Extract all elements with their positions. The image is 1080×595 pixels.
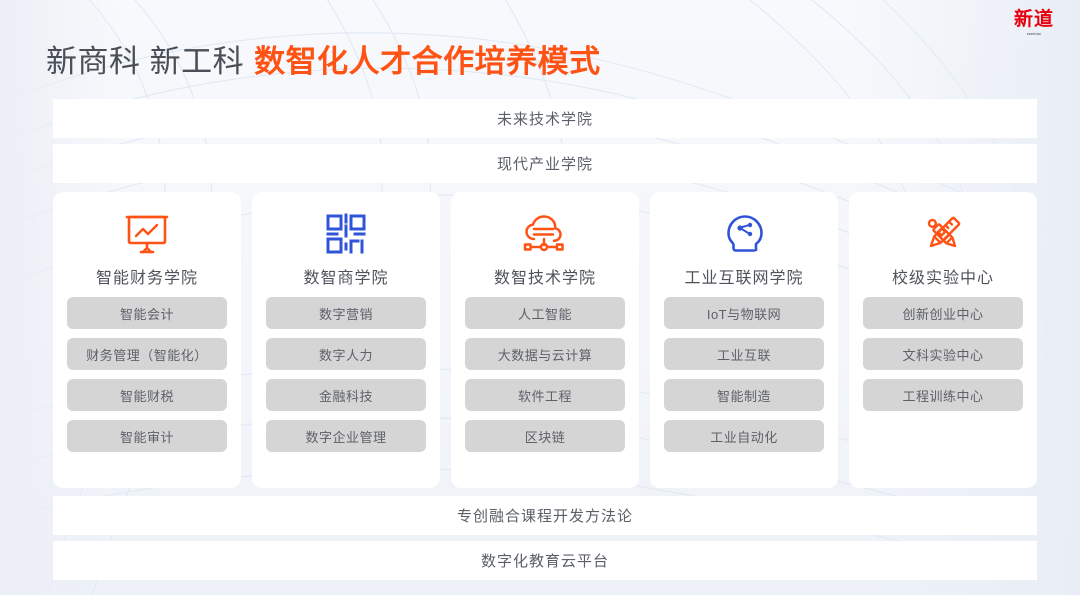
- program-pill[interactable]: 数字营销: [266, 297, 426, 329]
- column-card-intelligent-finance[interactable]: 智能财务学院 智能会计 财务管理（智能化） 智能财税 智能审计: [53, 192, 241, 488]
- program-pill[interactable]: IoT与物联网: [664, 297, 824, 329]
- program-pill[interactable]: 软件工程: [465, 379, 625, 411]
- program-pill[interactable]: 工业自动化: [664, 420, 824, 452]
- column-card-university-lab-center[interactable]: 校级实验中心 创新创业中心 文科实验中心 工程训练中心: [849, 192, 1037, 488]
- presentation-chart-icon: [124, 208, 170, 260]
- band-future-technology-college: 未来技术学院: [53, 99, 1037, 138]
- column-title: 校级实验中心: [892, 264, 994, 288]
- program-pill[interactable]: 智能制造: [664, 379, 824, 411]
- band-label: 专创融合课程开发方法论: [457, 505, 633, 526]
- column-card-digital-business[interactable]: 数智商学院 数字营销 数字人力 金融科技 数字企业管理: [252, 192, 440, 488]
- page-title-plain: 新商科 新工科: [46, 44, 244, 79]
- program-pill[interactable]: 区块链: [465, 420, 625, 452]
- program-pill[interactable]: 金融科技: [266, 379, 426, 411]
- page-title-accent: 数智化人才合作培养模式: [254, 44, 601, 79]
- program-pill[interactable]: 工业互联: [664, 338, 824, 370]
- college-columns: 智能财务学院 智能会计 财务管理（智能化） 智能财税 智能审计 数智商学院: [53, 192, 1037, 488]
- column-title: 智能财务学院: [96, 264, 198, 288]
- program-pill-list: 智能会计 财务管理（智能化） 智能财税 智能审计: [67, 297, 227, 452]
- program-pill-list: 人工智能 大数据与云计算 软件工程 区块链: [465, 297, 625, 452]
- program-pill[interactable]: 创新创业中心: [863, 297, 1023, 329]
- program-pill-list: 创新创业中心 文科实验中心 工程训练中心: [863, 297, 1023, 411]
- page-title: 新商科 新工科数智化人才合作培养模式: [46, 40, 601, 84]
- program-pill[interactable]: 智能财税: [67, 379, 227, 411]
- column-title: 数智商学院: [303, 264, 388, 288]
- ruler-pencil-icon: [921, 208, 965, 260]
- brand-logo: 新道 seentao: [1002, 10, 1066, 37]
- band-course-development-methodology: 专创融合课程开发方法论: [53, 496, 1037, 535]
- program-pill-list: IoT与物联网 工业互联 智能制造 工业自动化: [664, 297, 824, 452]
- program-pill[interactable]: 工程训练中心: [863, 379, 1023, 411]
- column-title: 工业互联网学院: [684, 264, 803, 288]
- program-pill[interactable]: 文科实验中心: [863, 338, 1023, 370]
- page-header: 新商科 新工科数智化人才合作培养模式 新道 seentao: [0, 0, 1080, 98]
- band-label: 现代产业学院: [497, 153, 593, 174]
- program-pill[interactable]: 财务管理（智能化）: [67, 338, 227, 370]
- ai-head-icon: [723, 208, 765, 260]
- band-digital-education-cloud-platform: 数字化教育云平台: [53, 541, 1037, 580]
- program-pill[interactable]: 智能会计: [67, 297, 227, 329]
- brand-logo-text: 新道: [1002, 10, 1066, 30]
- band-label: 未来技术学院: [497, 108, 593, 129]
- band-label: 数字化教育云平台: [481, 550, 609, 571]
- column-card-digital-technology[interactable]: 数智技术学院 人工智能 大数据与云计算 软件工程 区块链: [451, 192, 639, 488]
- program-pill[interactable]: 数字企业管理: [266, 420, 426, 452]
- band-modern-industry-college: 现代产业学院: [53, 144, 1037, 183]
- program-pill-list: 数字营销 数字人力 金融科技 数字企业管理: [266, 297, 426, 452]
- cloud-network-icon: [521, 208, 569, 260]
- qr-code-icon: [325, 208, 367, 260]
- column-title: 数智技术学院: [494, 264, 596, 288]
- program-pill[interactable]: 人工智能: [465, 297, 625, 329]
- program-pill[interactable]: 大数据与云计算: [465, 338, 625, 370]
- column-card-industrial-internet[interactable]: 工业互联网学院 IoT与物联网 工业互联 智能制造 工业自动化: [650, 192, 838, 488]
- program-pill[interactable]: 数字人力: [266, 338, 426, 370]
- brand-logo-subtext: seentao: [1000, 31, 1067, 37]
- program-pill[interactable]: 智能审计: [67, 420, 227, 452]
